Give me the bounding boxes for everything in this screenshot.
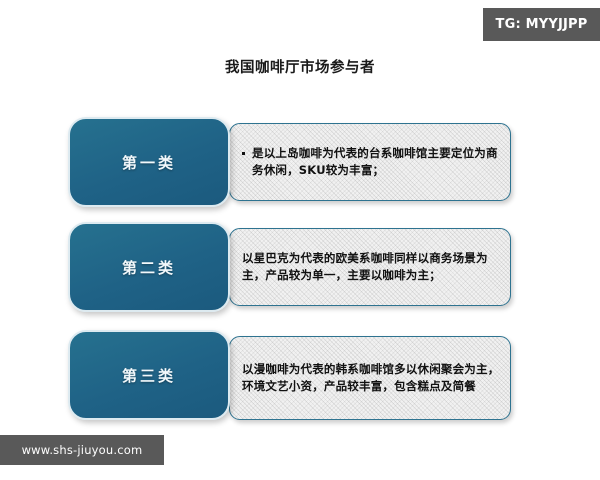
category-label-box[interactable]: 第一类: [68, 117, 230, 207]
category-description-box: 是以上岛咖啡为代表的台系咖啡馆主要定位为商务休闲，SKU较为丰富；: [229, 123, 511, 201]
category-label-box[interactable]: 第三类: [68, 330, 230, 420]
category-label-text: 第一类: [122, 152, 176, 173]
diagram-row: 以星巴克为代表的欧美系咖啡同样以商务场景为主，产品较为单一，主要以咖啡为主； 第…: [0, 222, 600, 312]
category-description-text: 是以上岛咖啡为代表的台系咖啡馆主要定位为商务休闲，SKU较为丰富；: [242, 145, 500, 178]
market-participants-diagram: 是以上岛咖啡为代表的台系咖啡馆主要定位为商务休闲，SKU较为丰富； 第一类 以星…: [0, 0, 600, 480]
category-label-text: 第二类: [122, 257, 176, 278]
diagram-row: 是以上岛咖啡为代表的台系咖啡馆主要定位为商务休闲，SKU较为丰富； 第一类: [0, 117, 600, 207]
category-description-text: 以星巴克为代表的欧美系咖啡同样以商务场景为主，产品较为单一，主要以咖啡为主；: [242, 250, 500, 283]
category-description-box: 以星巴克为代表的欧美系咖啡同样以商务场景为主，产品较为单一，主要以咖啡为主；: [229, 228, 511, 306]
site-watermark: www.shs-jiuyou.com: [0, 435, 164, 465]
diagram-row: 以漫咖啡为代表的韩系咖啡馆多以休闲聚会为主，环境文艺小资，产品较丰富，包含糕点及…: [0, 330, 600, 420]
category-label-box[interactable]: 第二类: [68, 222, 230, 312]
category-label-text: 第三类: [122, 365, 176, 386]
category-description-text: 以漫咖啡为代表的韩系咖啡馆多以休闲聚会为主，环境文艺小资，产品较丰富，包含糕点及…: [242, 361, 500, 394]
category-description-box: 以漫咖啡为代表的韩系咖啡馆多以休闲聚会为主，环境文艺小资，产品较丰富，包含糕点及…: [229, 336, 511, 420]
